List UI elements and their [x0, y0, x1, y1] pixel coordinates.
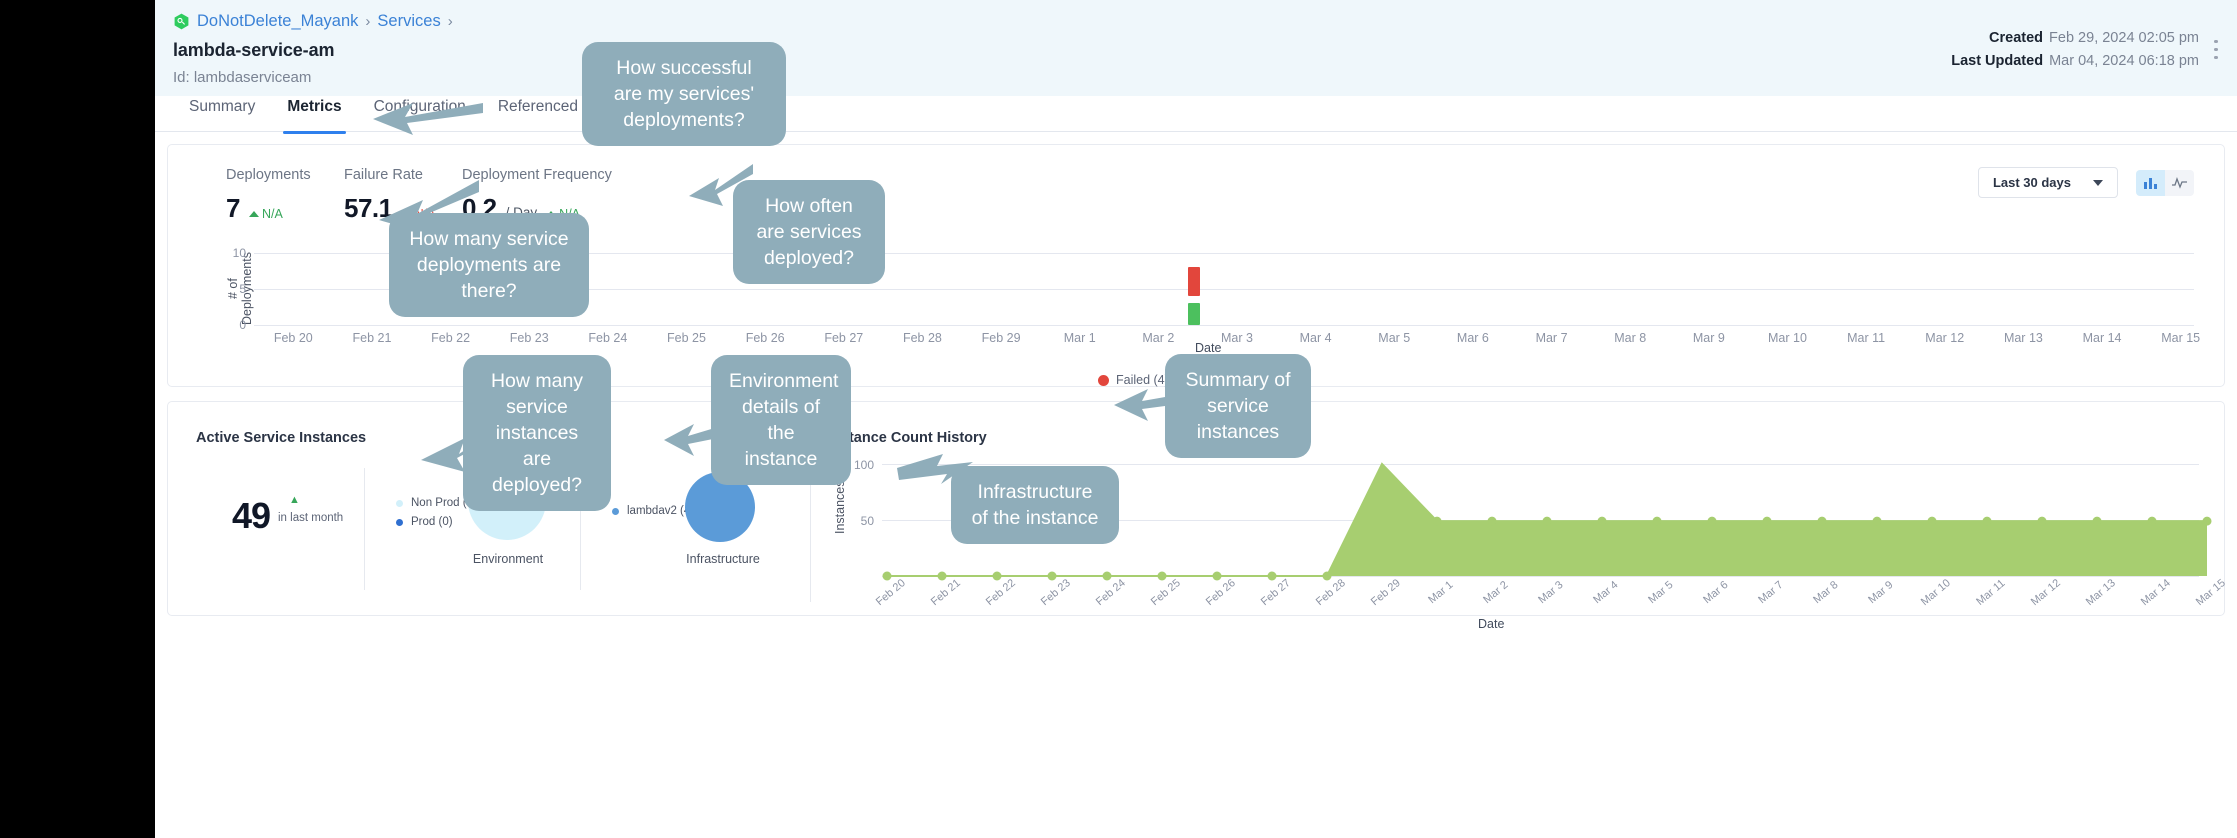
history-data-point[interactable] — [993, 572, 1002, 581]
deployments-xtick: Mar 1 — [1045, 331, 1115, 345]
callout-infrastructure-details: Infrastructure of the instance — [951, 466, 1119, 544]
callout-deployment-frequency: How often are services deployed? — [733, 180, 885, 284]
kpi-deployments-value: 7 — [226, 193, 240, 224]
history-data-point[interactable] — [1708, 517, 1717, 526]
bar-chart-icon[interactable] — [2136, 170, 2165, 196]
history-data-point[interactable] — [1983, 517, 1992, 526]
kpi-deployments-label: Deployments — [226, 167, 344, 183]
history-ytick-50: 50 — [840, 514, 874, 528]
deployments-xtick: Mar 6 — [1438, 331, 1508, 345]
deployments-xtick: Mar 4 — [1281, 331, 1351, 345]
deployments-xtick: Feb 23 — [494, 331, 564, 345]
deployments-xtick: Mar 8 — [1595, 331, 1665, 345]
chart-toolbar: Last 30 days — [1978, 167, 2194, 198]
updated-row: Last UpdatedMar 04, 2024 06:18 pm — [1951, 50, 2199, 73]
active-service-instances-title: Active Service Instances — [196, 430, 366, 446]
gridline-0 — [254, 325, 2194, 326]
deployments-ytick-10: 10 — [218, 246, 246, 260]
arrow-deployments-success — [365, 95, 485, 135]
callout-instances-count: How many service instances are deployed? — [463, 355, 611, 511]
date-range-selector[interactable]: Last 30 days — [1978, 167, 2118, 198]
line-chart-icon[interactable] — [2165, 170, 2194, 196]
deployments-xtick: Mar 15 — [2146, 331, 2216, 345]
callout-deployments-success: How successful are my services' deployme… — [582, 42, 786, 146]
bar-failed-feb29[interactable] — [1188, 267, 1200, 296]
more-vertical-icon[interactable] — [2207, 35, 2225, 69]
history-data-point[interactable] — [2148, 517, 2157, 526]
trend-up-icon — [249, 211, 259, 217]
created-label: Created — [1989, 30, 2043, 46]
trend-up-icon: ▲ — [289, 494, 300, 506]
deployments-xtick: Mar 13 — [1988, 331, 2058, 345]
deployments-ytick-5: 5 — [218, 282, 246, 296]
deployments-xtick: Feb 24 — [573, 331, 643, 345]
history-data-point[interactable] — [1763, 517, 1772, 526]
legend-dot-failed — [1098, 375, 1109, 386]
deployments-xtick: Feb 25 — [652, 331, 722, 345]
deployments-xtick: Feb 29 — [966, 331, 1036, 345]
callout-instances-summary: Summary of service instances — [1165, 354, 1311, 458]
history-x-axis-label: Date — [1478, 617, 1504, 631]
history-data-point[interactable] — [1433, 517, 1442, 526]
deployments-xtick: Mar 10 — [1752, 331, 1822, 345]
callout-environment-details: Environment details of the instance — [711, 355, 851, 485]
deployments-xtick: Feb 26 — [730, 331, 800, 345]
kpi-deployments-delta-text: N/A — [262, 207, 283, 221]
deployments-xtick: Mar 2 — [1123, 331, 1193, 345]
page-title: lambda-service-am — [155, 40, 2237, 61]
deployments-xtick: Mar 7 — [1517, 331, 1587, 345]
callout-deployments-count: How many service deployments are there? — [389, 213, 589, 317]
kpi-deployment-frequency-label: Deployment Frequency — [462, 167, 637, 183]
created-row: CreatedFeb 29, 2024 02:05 pm — [1951, 27, 2199, 50]
infrastructure-caption: Infrastructure — [648, 552, 798, 566]
tab-referenced[interactable]: Referenced — [482, 98, 594, 133]
date-range-value: Last 30 days — [1993, 175, 2071, 190]
history-data-point[interactable] — [1653, 517, 1662, 526]
instance-count-value: 49 — [232, 495, 270, 537]
bar-success-feb29[interactable] — [1188, 303, 1200, 325]
service-id: Id: lambdaserviceam — [155, 69, 2237, 86]
divider-1 — [364, 468, 365, 590]
history-data-point[interactable] — [1873, 517, 1882, 526]
deployments-xtick: Feb 21 — [337, 331, 407, 345]
history-data-point[interactable] — [938, 572, 947, 581]
history-data-point[interactable] — [1598, 517, 1607, 526]
deployments-xtick: Feb 22 — [416, 331, 486, 345]
legend-dot-prod — [396, 519, 403, 526]
breadcrumb: DoNotDelete_Mayank › Services › — [155, 12, 2237, 31]
history-data-point[interactable] — [1543, 517, 1552, 526]
app-root: DoNotDelete_Mayank › Services › lambda-s… — [155, 0, 2237, 838]
updated-label: Last Updated — [1951, 53, 2043, 69]
history-data-point[interactable] — [1048, 572, 1057, 581]
legend-dot-non-prod — [396, 500, 403, 507]
history-data-point[interactable] — [1158, 572, 1167, 581]
history-data-point[interactable] — [1323, 572, 1332, 581]
deployments-ytick-0: 0 — [218, 318, 246, 332]
breadcrumb-org[interactable]: DoNotDelete_Mayank — [197, 12, 358, 31]
kpi-deployments-delta: N/A — [249, 207, 283, 221]
deployments-x-axis-label: Date — [1195, 341, 1221, 355]
environment-caption: Environment — [428, 552, 588, 566]
deployments-xtick: Mar 9 — [1674, 331, 1744, 345]
deployments-xtick: Feb 27 — [809, 331, 879, 345]
deployments-xtick: Feb 28 — [887, 331, 957, 345]
kebab-dot-3 — [2214, 56, 2218, 60]
breadcrumb-services[interactable]: Services — [377, 12, 440, 31]
history-data-point[interactable] — [1928, 517, 1937, 526]
history-data-point[interactable] — [2203, 517, 2212, 526]
history-data-point[interactable] — [1103, 572, 1112, 581]
history-data-point[interactable] — [2093, 517, 2102, 526]
chevron-down-icon — [2093, 180, 2103, 186]
page-header: DoNotDelete_Mayank › Services › lambda-s… — [155, 0, 2237, 96]
chart-view-toggle — [2136, 170, 2194, 196]
history-data-point[interactable] — [2038, 517, 2047, 526]
kebab-dot-1 — [2214, 40, 2218, 44]
history-data-point[interactable] — [1213, 572, 1222, 581]
updated-value: Mar 04, 2024 06:18 pm — [2049, 53, 2199, 69]
instance-count-subtext: in last month — [278, 512, 343, 524]
deployments-xtick: Mar 11 — [1831, 331, 1901, 345]
tab-metrics[interactable]: Metrics — [271, 98, 357, 133]
history-data-point[interactable] — [1488, 517, 1497, 526]
history-data-point[interactable] — [1818, 517, 1827, 526]
legend-dot-lambdav2 — [612, 508, 619, 515]
record-metadata: CreatedFeb 29, 2024 02:05 pm Last Update… — [1951, 27, 2199, 73]
history-data-point[interactable] — [883, 572, 892, 581]
deployments-xtick: Mar 12 — [1910, 331, 1980, 345]
created-value: Feb 29, 2024 02:05 pm — [2049, 30, 2199, 46]
history-data-point[interactable] — [1268, 572, 1277, 581]
kpi-deployments: Deployments 7 N/A — [226, 167, 344, 224]
hexagon-icon — [173, 13, 190, 30]
deployments-xtick: Mar 5 — [1359, 331, 1429, 345]
tab-summary[interactable]: Summary — [173, 98, 271, 133]
legend-label-prod: Prod (0) — [411, 513, 453, 532]
breadcrumb-separator-2: › — [448, 13, 453, 30]
instance-count-history-title: Instance Count History — [828, 430, 987, 446]
deployments-xtick: Feb 20 — [258, 331, 328, 345]
kebab-dot-2 — [2214, 48, 2218, 52]
deployments-xtick: Mar 14 — [2067, 331, 2137, 345]
breadcrumb-separator-1: › — [365, 13, 370, 30]
